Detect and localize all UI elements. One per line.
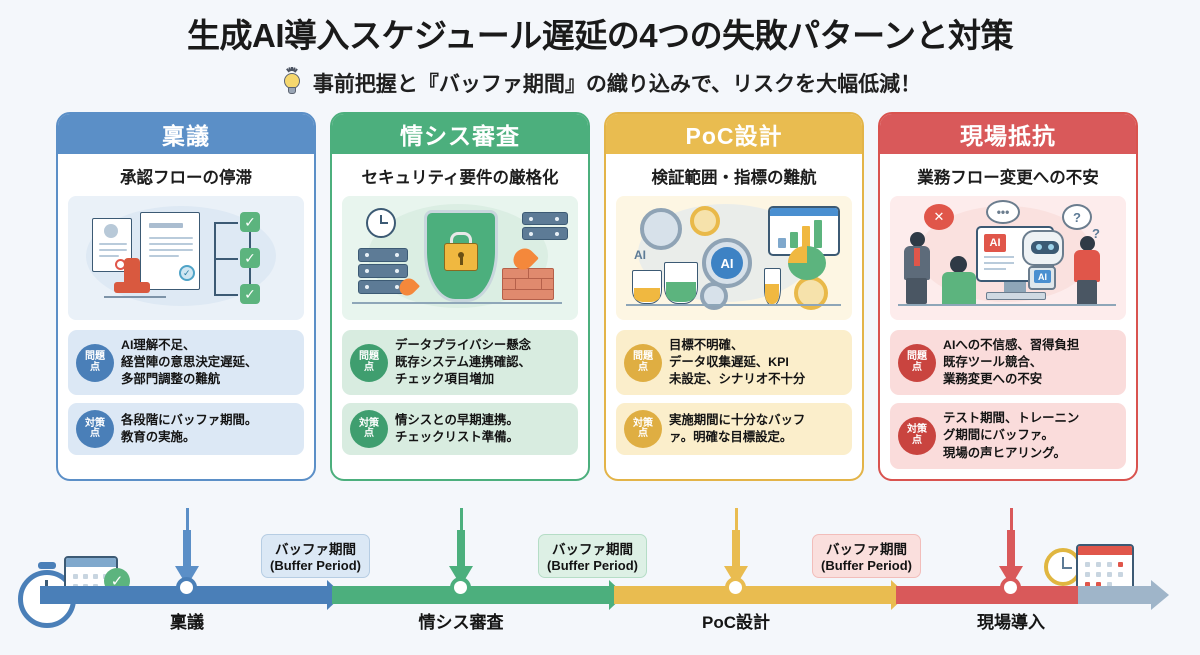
clock-hand-2 (1062, 567, 1072, 569)
segment-grey (1078, 586, 1156, 604)
card-subtitle: セキュリティ要件の厳格化 (332, 154, 588, 196)
milestone-label-genba: 現場導入 (977, 608, 1045, 633)
project-timeline: ✓ (0, 518, 1200, 655)
problem-box: 問題 点 AI理解不足、 経営陣の意思決定遅延、 多部門調整の難航 (68, 330, 304, 395)
problem-text: データプライバシー懸念 既存システム連携確認、 チェック項目増加 (395, 337, 531, 388)
buffer-tag-2: バッファ期間 (Buffer Period) (538, 534, 647, 578)
problem-badge: 問題 点 (898, 344, 936, 382)
card-body: 問題 点 AIへの不信感、習得負担 既存ツール競合、 業務変更への不安 対策 点… (880, 320, 1136, 479)
problem-box: 問題 点 目標不明確、 データ収集遅延、KPI 未設定、シナリオ不十分 (616, 330, 852, 395)
measure-text: 実施期間に十分なバッフ ァ。明確な目標設定。 (669, 412, 805, 446)
calendar-icon-end (1076, 544, 1134, 592)
problem-badge: 問題 点 (624, 344, 662, 382)
card-subtitle: 業務フロー変更への不安 (880, 154, 1136, 196)
segment-yellow (614, 586, 894, 604)
problem-text: AIへの不信感、習得負担 既存ツール競合、 業務変更への不安 (943, 337, 1079, 388)
measure-box: 対策 点 情シスとの早期連携。 チェックリスト準備。 (342, 403, 578, 455)
card-ringi[interactable]: 稟議 承認フローの停滞 ✓ ✓ (56, 112, 316, 481)
problem-box: 問題 点 データプライバシー懸念 既存システム連携確認、 チェック項目増加 (342, 330, 578, 395)
people-robot-monitor-confusion-illustration: ✕ ••• ? ? AI (890, 196, 1126, 320)
card-title: PoC設計 (606, 114, 862, 154)
card-body: 問題 点 AI理解不足、 経営陣の意思決定遅延、 多部門調整の難航 対策 点 各… (58, 320, 314, 465)
milestone-node-poc[interactable] (725, 577, 746, 598)
measure-box: 対策 点 テスト期間、トレーニン グ期間にバッファ。 現場の声ヒアリング。 (890, 403, 1126, 468)
problem-box: 問題 点 AIへの不信感、習得負担 既存ツール競合、 業務変更への不安 (890, 330, 1126, 395)
connector-4 (1010, 508, 1013, 532)
security-shield-lock-servers-firewall-illustration (342, 196, 578, 320)
card-body: 問題 点 目標不明確、 データ収集遅延、KPI 未設定、シナリオ不十分 対策 点… (606, 320, 862, 465)
problem-text: 目標不明確、 データ収集遅延、KPI 未設定、シナリオ不十分 (669, 337, 805, 388)
measure-text: テスト期間、トレーニン グ期間にバッファ。 現場の声ヒアリング。 (943, 410, 1079, 461)
connector-2 (460, 508, 463, 532)
card-title: 現場抵抗 (880, 114, 1136, 154)
card-title: 稟議 (58, 114, 314, 154)
stopwatch-crown (38, 562, 56, 569)
measure-badge: 対策 点 (350, 410, 388, 448)
page-title: 生成AI導入スケジュール遅延の4つの失敗パターンと対策 (0, 16, 1200, 56)
lightbulb-icon (279, 68, 305, 98)
milestone-node-genba[interactable] (1000, 577, 1021, 598)
approval-documents-stamp-checklist-illustration: ✓ ✓ ✓ ✓ (68, 196, 304, 320)
measure-text: 情シスとの早期連携。 チェックリスト準備。 (395, 412, 519, 446)
connector-3 (735, 508, 738, 532)
measure-badge: 対策 点 (898, 417, 936, 455)
measure-box: 対策 点 実施期間に十分なバッフ ァ。明確な目標設定。 (616, 403, 852, 455)
card-joshis-shinsa[interactable]: 情シス審査 セキュリティ要件の厳格化 (330, 112, 590, 481)
card-subtitle: 検証範囲・指標の難航 (606, 154, 862, 196)
segment-green (332, 586, 612, 604)
measure-text: 各段階にバッファ期間。 教育の実施。 (121, 412, 257, 446)
subtitle-row: 事前把握と『バッファ期間』の織り込みで、リスクを大幅低減！ (0, 68, 1200, 98)
measure-badge: 対策 点 (76, 410, 114, 448)
question-bubble-icon: ? (1062, 204, 1092, 230)
robot-icon (1022, 230, 1064, 266)
measure-box: 対策 点 各段階にバッファ期間。 教育の実施。 (68, 403, 304, 455)
problem-badge: 問題 点 (350, 344, 388, 382)
measure-badge: 対策 点 (624, 410, 662, 448)
milestone-node-joshis[interactable] (450, 577, 471, 598)
chat-bubble-icon: ••• (986, 200, 1020, 224)
buffer-tag-1: バッファ期間 (Buffer Period) (261, 534, 370, 578)
connector-1 (186, 508, 189, 532)
x-bubble-icon: ✕ (924, 204, 954, 230)
card-genba-teikou[interactable]: 現場抵抗 業務フロー変更への不安 ✕ ••• ? ? AI (878, 112, 1138, 481)
card-body: 問題 点 データプライバシー懸念 既存システム連携確認、 チェック項目増加 対策… (332, 320, 588, 465)
card-subtitle: 承認フローの停滞 (58, 154, 314, 196)
milestone-label-poc: PoC設計 (702, 608, 770, 633)
failure-pattern-cards: 稟議 承認フローの停滞 ✓ ✓ (0, 112, 1200, 481)
problem-badge: 問題 点 (76, 344, 114, 382)
card-title: 情シス審査 (332, 114, 588, 154)
page-subtitle: 事前把握と『バッファ期間』の織り込みで、リスクを大幅低減！ (313, 68, 921, 98)
ai-gears-flasks-chart-illustration: AI AI (616, 196, 852, 320)
page-header: 生成AI導入スケジュール遅延の4つの失敗パターンと対策 事前把握と『バッファ期間… (0, 0, 1200, 98)
milestone-label-ringi: 稟議 (170, 608, 204, 633)
milestone-node-ringi[interactable] (176, 577, 197, 598)
buffer-tag-3: バッファ期間 (Buffer Period) (812, 534, 921, 578)
segment-red (896, 586, 1078, 604)
milestone-label-joshis: 情シス審査 (419, 608, 504, 633)
card-poc-sekkei[interactable]: PoC設計 検証範囲・指標の難航 AI AI (604, 112, 864, 481)
problem-text: AI理解不足、 経営陣の意思決定遅延、 多部門調整の難航 (121, 337, 257, 388)
